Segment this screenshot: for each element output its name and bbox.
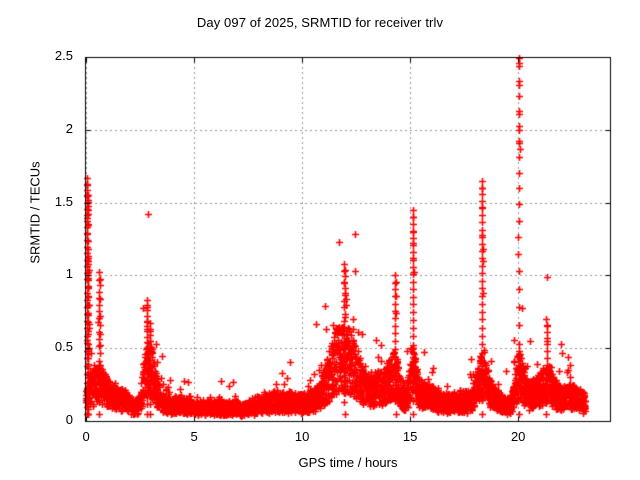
- x-tick-label: 5: [174, 429, 214, 444]
- y-tick-label: 0: [13, 412, 73, 427]
- x-tick-label: 10: [282, 429, 322, 444]
- chart-figure: Day 097 of 2025, SRMTID for receiver trl…: [0, 0, 640, 480]
- x-axis-label: GPS time / hours: [85, 455, 611, 470]
- y-tick-label: 0.5: [13, 339, 73, 354]
- y-tick-label: 1.5: [13, 194, 73, 209]
- x-tick-label: 20: [498, 429, 538, 444]
- x-tick-label: 15: [390, 429, 430, 444]
- y-tick-label: 2: [13, 121, 73, 136]
- x-tick-label: 0: [66, 429, 106, 444]
- scatter-plot-canvas: [0, 0, 640, 480]
- y-tick-label: 1: [13, 266, 73, 281]
- y-tick-label: 2.5: [13, 48, 73, 63]
